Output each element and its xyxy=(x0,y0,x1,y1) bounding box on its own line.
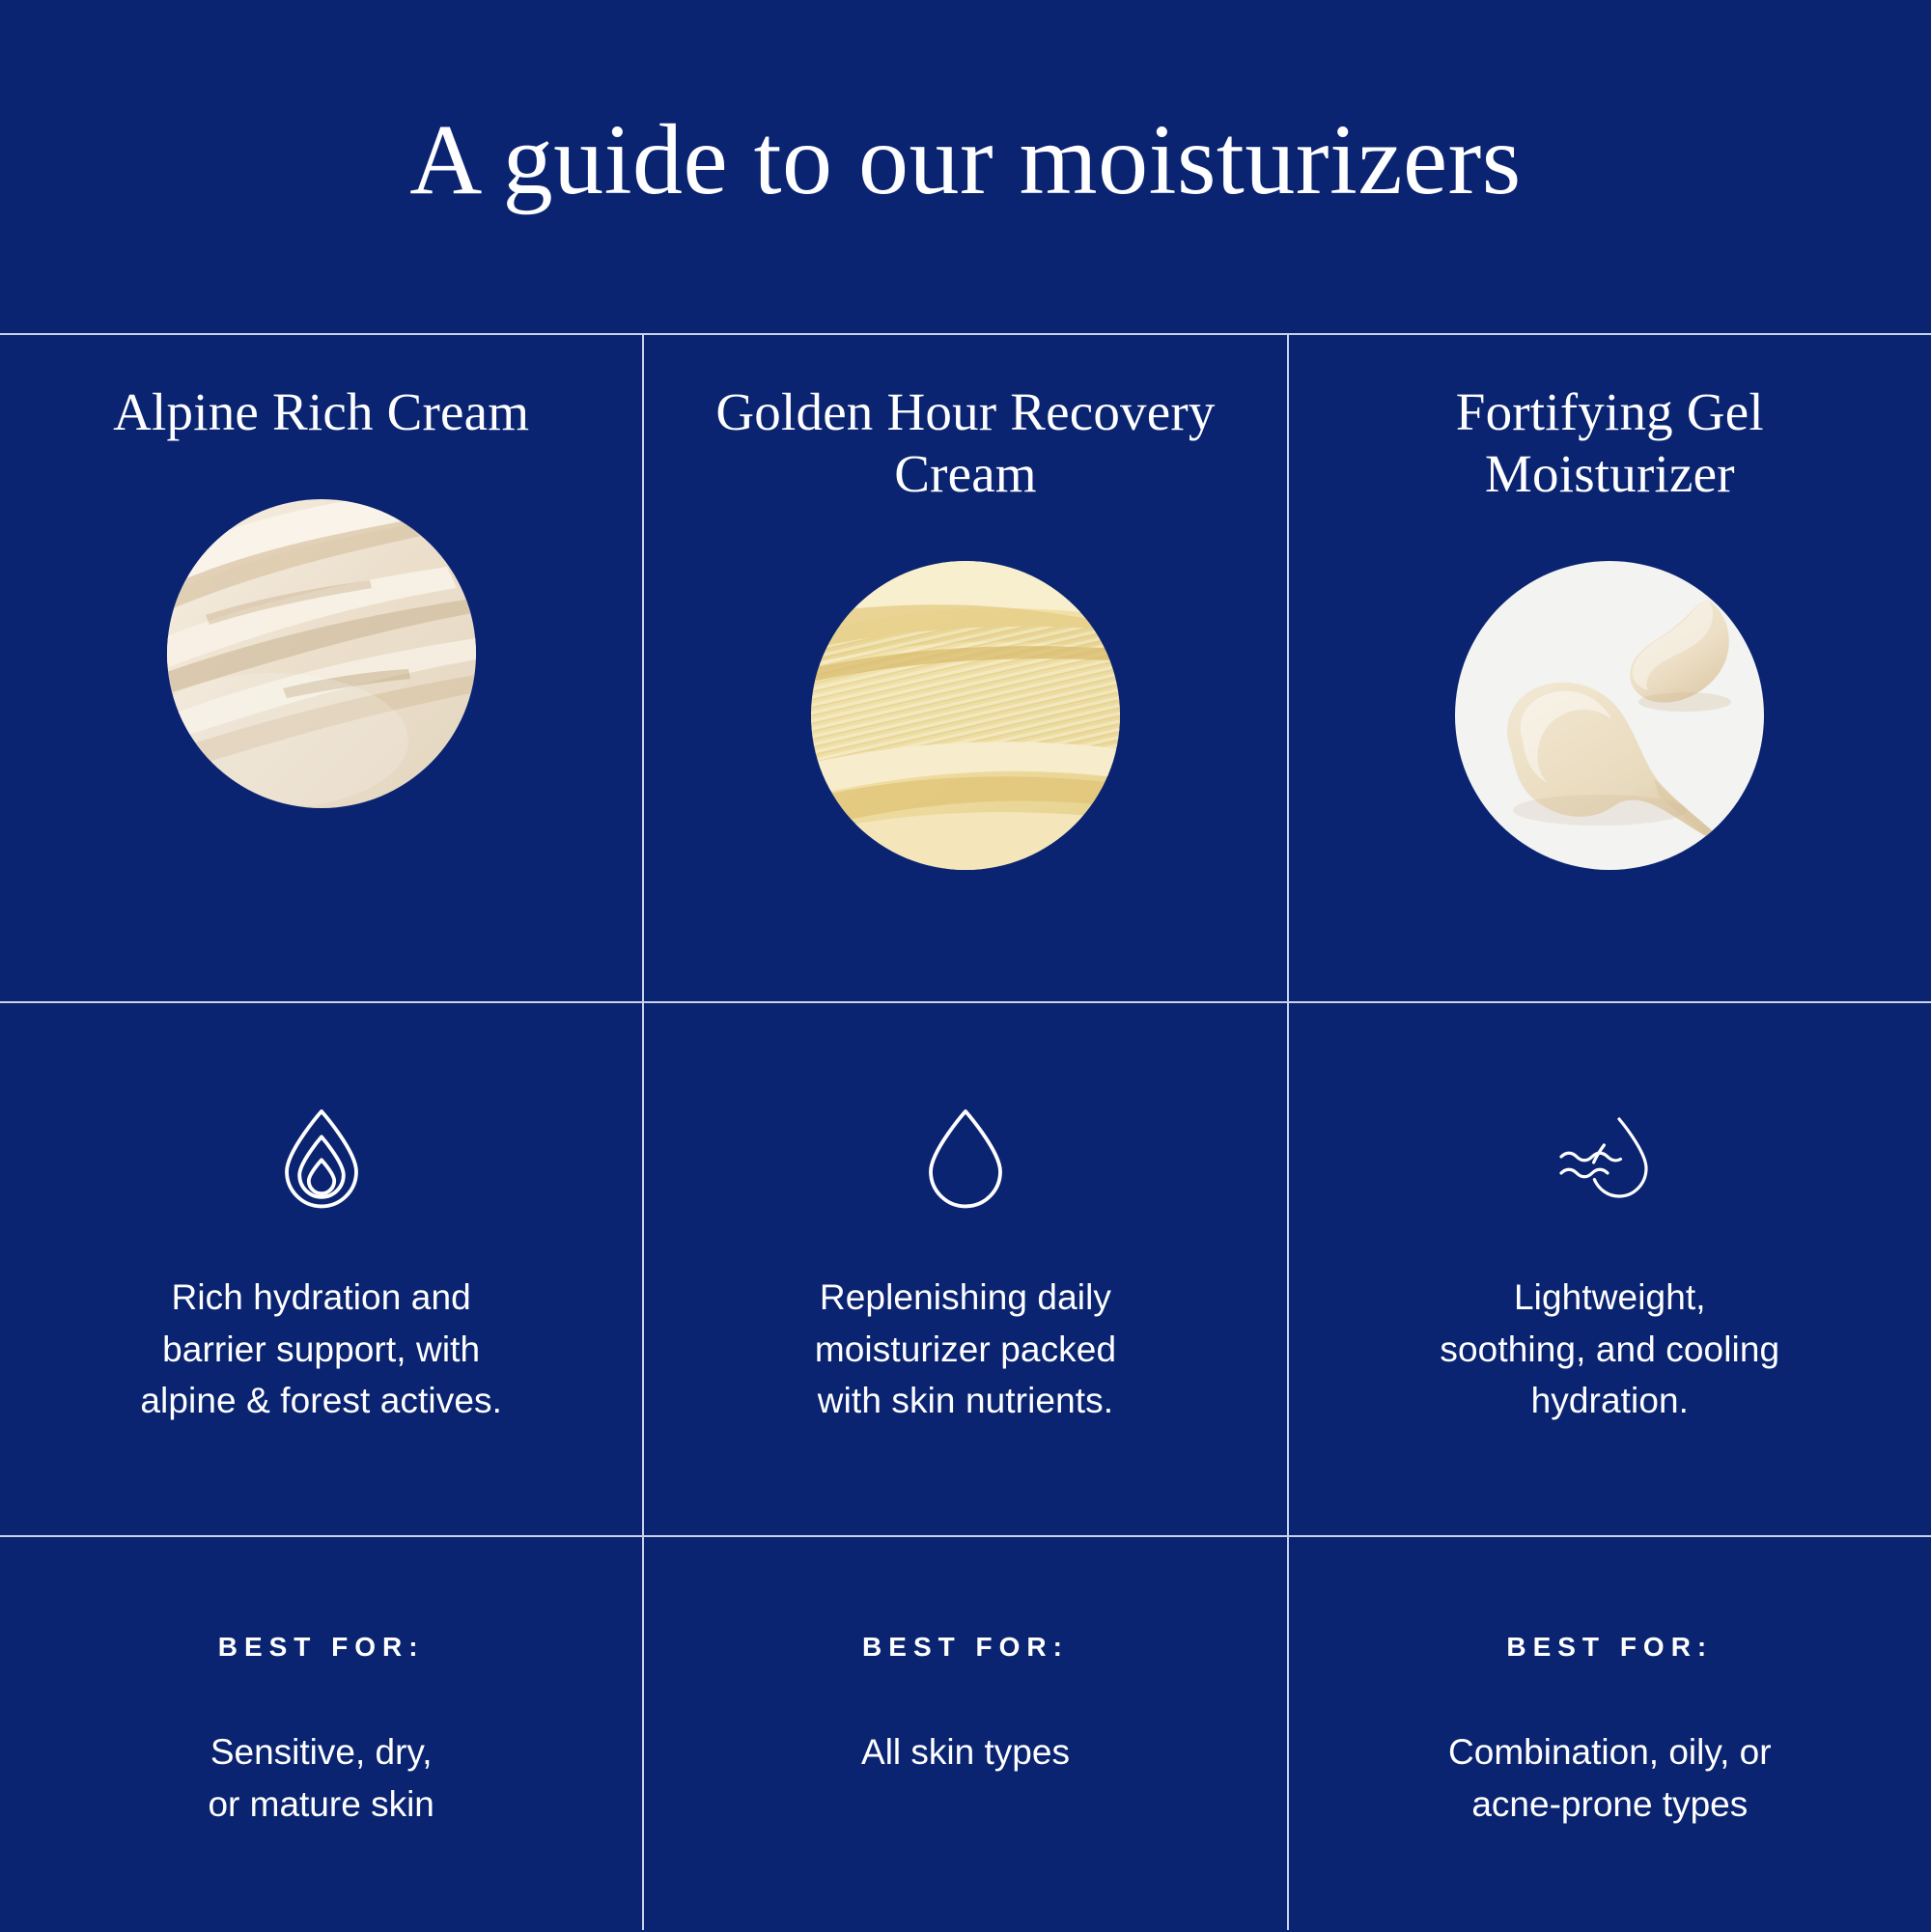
droplet-with-waves-icon xyxy=(1552,1100,1667,1216)
benefit-cell-alpine-rich-cream: Rich hydration and barrier support, with… xyxy=(0,1003,642,1535)
best-for-value: Combination, oily, or acne-prone types xyxy=(1448,1726,1772,1830)
product-title: Fortifying Gel Moisturizer xyxy=(1328,335,1892,505)
best-for-cell-alpine-rich-cream: Best for: Sensitive, dry, or mature skin xyxy=(0,1537,642,1930)
alpine-rich-cream-texture-swatch xyxy=(167,499,476,808)
benefit-description: Replenishing daily moisturizer packed wi… xyxy=(815,1272,1116,1427)
page-title: A guide to our moisturizers xyxy=(409,107,1522,226)
best-for-label: Best for: xyxy=(1506,1632,1713,1663)
golden-hour-recovery-cream-texture-swatch xyxy=(811,561,1120,870)
comparison-grid: Alpine Rich Cream xyxy=(0,333,1931,1930)
best-for-label: Best for: xyxy=(218,1632,425,1663)
droplet-icon xyxy=(908,1100,1023,1216)
benefit-cell-fortifying-gel-moisturizer: Lightweight, soothing, and cooling hydra… xyxy=(1287,1003,1931,1535)
nested-droplet-icon xyxy=(264,1100,379,1216)
product-row: Alpine Rich Cream xyxy=(0,335,1931,1001)
best-for-value: Sensitive, dry, or mature skin xyxy=(208,1726,434,1830)
best-for-cell-fortifying-gel-moisturizer: Best for: Combination, oily, or acne-pro… xyxy=(1287,1537,1931,1930)
benefit-row: Rich hydration and barrier support, with… xyxy=(0,1001,1931,1535)
best-for-value: All skin types xyxy=(861,1726,1070,1778)
fortifying-gel-moisturizer-texture-swatch xyxy=(1455,561,1764,870)
benefit-cell-golden-hour-recovery-cream: Replenishing daily moisturizer packed wi… xyxy=(642,1003,1286,1535)
benefit-description: Rich hydration and barrier support, with… xyxy=(140,1272,502,1427)
best-for-cell-golden-hour-recovery-cream: Best for: All skin types xyxy=(642,1537,1286,1930)
product-title: Alpine Rich Cream xyxy=(113,335,529,443)
product-title: Golden Hour Recovery Cream xyxy=(683,335,1247,505)
best-for-label: Best for: xyxy=(862,1632,1069,1663)
product-cell-fortifying-gel-moisturizer[interactable]: Fortifying Gel Moisturizer xyxy=(1287,335,1931,1001)
moisturizer-guide-poster: A guide to our moisturizers Alpine Rich … xyxy=(0,0,1931,1932)
best-for-row: Best for: Sensitive, dry, or mature skin… xyxy=(0,1535,1931,1930)
product-cell-alpine-rich-cream[interactable]: Alpine Rich Cream xyxy=(0,335,642,1001)
product-cell-golden-hour-recovery-cream[interactable]: Golden Hour Recovery Cream xyxy=(642,335,1286,1001)
poster-header: A guide to our moisturizers xyxy=(0,0,1931,333)
benefit-description: Lightweight, soothing, and cooling hydra… xyxy=(1440,1272,1779,1427)
